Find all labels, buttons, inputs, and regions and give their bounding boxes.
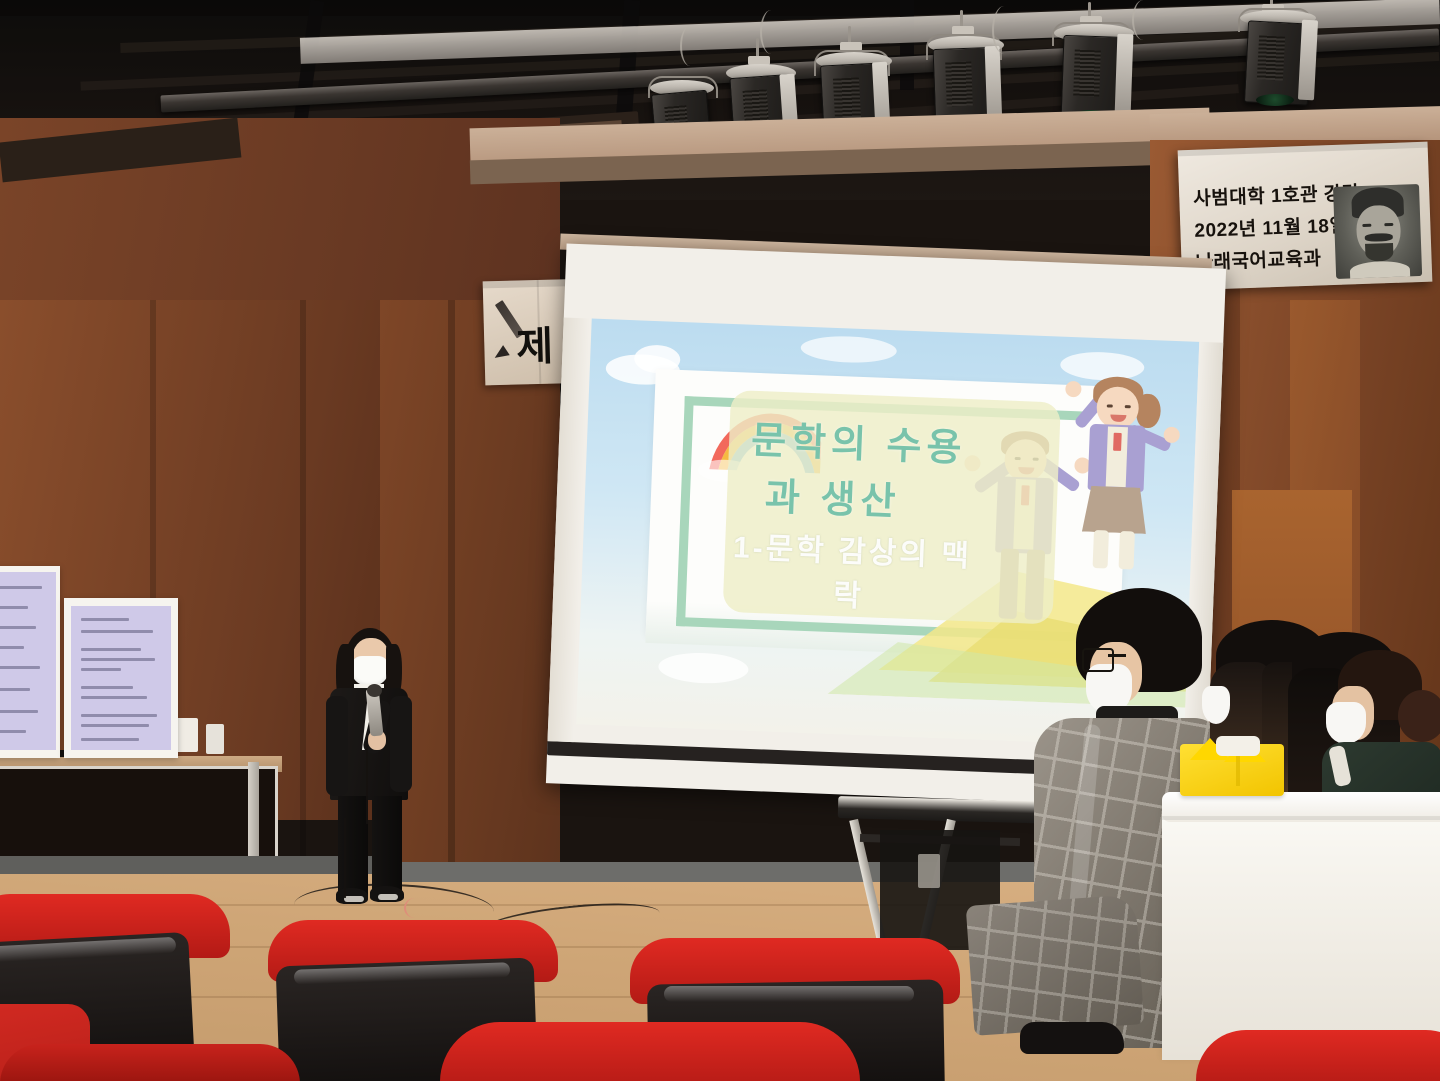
hair-bun (1398, 690, 1440, 742)
face-mask (1202, 686, 1230, 724)
face-mask (352, 656, 388, 686)
glasses-icon (1082, 648, 1114, 672)
wall-seam (300, 300, 306, 860)
trouser-check-pattern (966, 894, 1145, 1036)
eraser (206, 724, 224, 754)
slide-title-line1: 문학의 수용 (750, 409, 967, 472)
cloud-icon (800, 335, 897, 365)
glasses-bridge (1108, 654, 1126, 657)
scholar-portrait-icon (1333, 184, 1422, 279)
slide-title-line2: 과 생산 (764, 465, 901, 525)
auditorium-scene: 제 4 사범대학 1호관 강당 2022년 11월 18일 나래국어교육과 (0, 0, 1440, 1081)
auditorium-seat (0, 1044, 300, 1081)
student-figure-icon (1061, 373, 1176, 569)
table-shadow-line (1162, 816, 1440, 820)
wall-seam (448, 300, 455, 900)
banner-line-2: 2022년 11월 18일 (1194, 211, 1348, 243)
shoe-sole (378, 894, 398, 900)
paper-in-bag (1216, 736, 1260, 756)
bag-seam (1236, 752, 1240, 786)
poem-poster-left (0, 566, 60, 758)
table-label (918, 854, 940, 888)
microphone-head (367, 684, 382, 697)
light-cable (992, 6, 1016, 54)
microphone-cord (344, 818, 376, 898)
slide-subtitle-line1: 1-문학 감상의 맥 (732, 522, 972, 575)
eraser (176, 718, 198, 752)
ponytail (1136, 394, 1161, 429)
light-cable (760, 10, 782, 54)
auditorium-seat (440, 1022, 860, 1081)
slide-subtitle-line2: 락 (833, 570, 865, 615)
light-cable (680, 26, 700, 66)
poem-poster-right (64, 598, 178, 758)
face-mask (1326, 702, 1366, 744)
cloud-icon (658, 651, 749, 684)
light-cable (1132, 0, 1154, 40)
audience-shoe (1020, 1022, 1124, 1054)
microphone-cord (366, 734, 394, 824)
panel-table (1162, 800, 1440, 1060)
pencil-tip-icon (491, 345, 509, 363)
ceiling-slat (900, 0, 914, 90)
auditorium-seat (1196, 1030, 1440, 1081)
